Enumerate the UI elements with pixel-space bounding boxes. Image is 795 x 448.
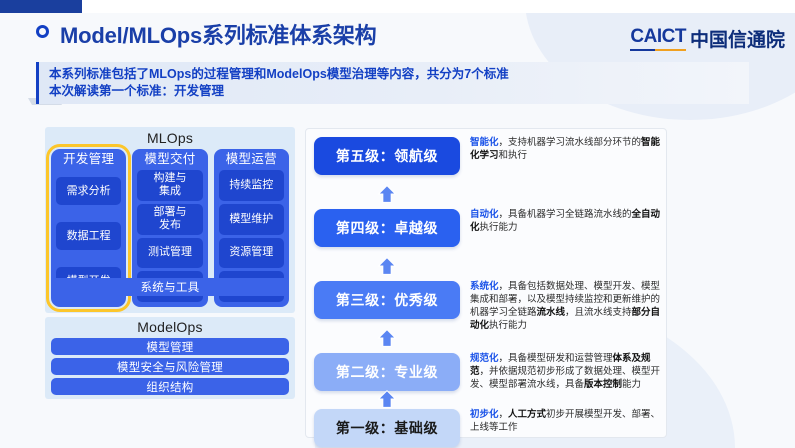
up-arrow-icon	[377, 328, 397, 348]
modelops-group-title: ModelOps	[45, 319, 295, 335]
maturity-level-box[interactable]: 第一级：基础级	[314, 409, 460, 447]
mlops-item[interactable]: 构建与 集成	[137, 170, 202, 201]
maturity-level-box[interactable]: 第二级：专业级	[314, 353, 460, 391]
slide-root: Model/MLOps系列标准体系架构 CAICT 中国信通院 本系列标准包括了…	[0, 0, 795, 448]
mlops-item[interactable]: 部署与 发布	[137, 204, 202, 235]
mlops-item[interactable]: 测试管理	[137, 238, 202, 269]
maturity-level-list: 第五级：领航级智能化，支持机器学习流水线部分环节的智能化学习和执行第四级：卓越级…	[314, 137, 460, 429]
maturity-level-description: 初步化，人工方式初步开展模型开发、部署、上线等工作	[470, 408, 668, 434]
mlops-item[interactable]: 模型维护	[219, 204, 284, 235]
maturity-model-card: 第五级：领航级智能化，支持机器学习流水线部分环节的智能化学习和执行第四级：卓越级…	[305, 128, 667, 438]
mlops-group-title: MLOps	[45, 130, 295, 146]
up-arrow-icon	[377, 256, 397, 276]
ring-icon	[36, 25, 49, 38]
maturity-level-box[interactable]: 第五级：领航级	[314, 137, 460, 175]
caict-logo: CAICT 中国信通院	[630, 25, 785, 52]
maturity-level-box[interactable]: 第三级：优秀级	[314, 281, 460, 319]
system-tools-bar[interactable]: 系统与工具	[51, 278, 289, 296]
modelops-bar[interactable]: 模型安全与风险管理	[51, 358, 289, 375]
maturity-level-description: 智能化，支持机器学习流水线部分环节的智能化学习和执行	[470, 136, 668, 162]
modelops-bar[interactable]: 模型管理	[51, 338, 289, 355]
subtitle-line-1: 本系列标准包括了MLOps的过程管理和ModelOps模型治理等内容，共分为7个…	[49, 66, 749, 83]
maturity-level-description: 系统化，具备包括数据处理、模型开发、模型集成和部署，以及模型持续监控和更新维护的…	[470, 280, 668, 332]
top-accent-bar	[0, 0, 82, 13]
slide-header: Model/MLOps系列标准体系架构 CAICT 中国信通院	[0, 13, 795, 55]
logo-latin-text: CAICT	[630, 26, 686, 51]
mlops-item[interactable]: 需求分析	[56, 177, 121, 205]
mlops-column-title: 模型运营	[219, 152, 284, 167]
mlops-column-title: 开发管理	[56, 152, 121, 167]
subtitle-line-2: 本次解读第一个标准：开发管理	[49, 83, 749, 100]
up-arrow-icon	[377, 389, 397, 409]
logo-chinese-text: 中国信通院	[690, 25, 785, 52]
modelops-bar[interactable]: 组织结构	[51, 378, 289, 395]
mlops-column-title: 模型交付	[137, 152, 202, 167]
modelops-group: ModelOps 模型管理模型安全与风险管理组织结构	[45, 317, 295, 399]
maturity-level-box[interactable]: 第四级：卓越级	[314, 209, 460, 247]
subtitle-banner: 本系列标准包括了MLOps的过程管理和ModelOps模型治理等内容，共分为7个…	[36, 62, 749, 104]
maturity-level-description: 规范化，具备模型研发和运营管理体系及规范，并依据规范初步形成了数据处理、模型开发…	[470, 352, 668, 391]
maturity-level-description: 自动化，具备机器学习全链路流水线的全自动化执行能力	[470, 208, 668, 234]
mlops-item[interactable]: 资源管理	[219, 238, 284, 269]
mlops-item[interactable]: 数据工程	[56, 222, 121, 250]
top-bar-filler	[82, 0, 795, 13]
mlops-item[interactable]: 持续监控	[219, 170, 284, 201]
modelops-bar-list: 模型管理模型安全与风险管理组织结构	[51, 338, 289, 395]
page-title: Model/MLOps系列标准体系架构	[60, 18, 376, 50]
up-arrow-icon	[377, 184, 397, 204]
